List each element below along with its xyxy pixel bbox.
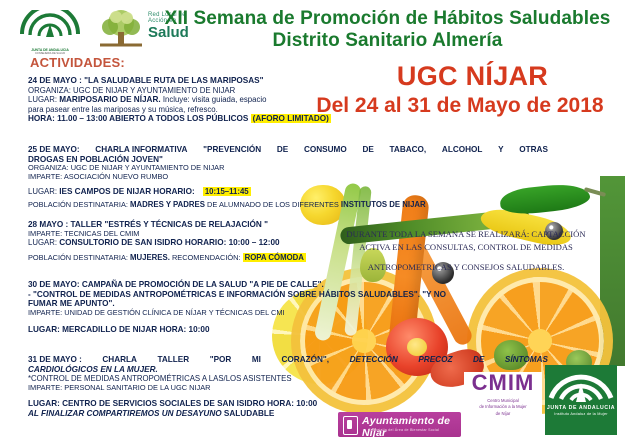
activity-24-title: "LA SALUDABLE RUTA DE LAS MARIPOSAS" <box>84 76 263 85</box>
activity-30-imparte: IMPARTE: UNIDAD DE GESTIÓN CLÍNICA DE NÍ… <box>28 309 548 318</box>
poster-title-line-1: XII Semana de Promoción de Hábitos Salud… <box>160 8 615 30</box>
activity-block-25-may: 25 DE MAYO: CHARLA INFORMATIVA "PREVENCI… <box>28 145 548 210</box>
activity-31-title-i: SÍNTOMAS <box>505 355 548 365</box>
activity-28-date: 28 MAYO : <box>28 220 68 229</box>
activity-25-poblacion-institutos: INSTITUTOS DE NIJAR <box>341 200 426 209</box>
ayuntamiento-de-nijar-logo: Ayuntamiento de Níjar Concejalía del Áre… <box>338 412 461 437</box>
cmim-logo: CMIM Centro Municipal de Información a l… <box>464 372 542 430</box>
chilli-tip-decoration <box>584 187 606 197</box>
activity-25-title-c: DE <box>277 145 288 155</box>
ugc-nijar-heading: UGC NÍJAR <box>330 61 615 92</box>
activity-25-horario-label: HORARIO: <box>153 187 194 196</box>
activity-31-title-d: MI <box>252 355 261 365</box>
activity-31-title-h: DE <box>473 355 484 365</box>
activity-30-lugar: LUGAR: MERCADILLO DE NIJAR HORA: 10:00 <box>28 325 548 335</box>
activity-30-line2: - "CONTROL DE MEDIDAS ANTROPOMÉTRICAS E … <box>28 290 548 300</box>
activity-24-lugar-rest2: para pasear entre las mariposas y su mús… <box>28 105 331 114</box>
junta-de-andalucia-logo-bottom: JUNTA DE ANDALUCIA Instituto Andaluz de … <box>545 365 617 435</box>
activity-31-title-row: 31 DE MAYO : CHARLA TALLER "POR MI CORAZ… <box>28 355 548 365</box>
activity-28-imparte: IMPARTE: TECNICAS DEL CMIM <box>28 230 306 239</box>
activity-24-lugar-label: LUGAR: <box>28 95 57 104</box>
activity-25-date: 25 DE MAYO: <box>28 145 80 155</box>
activity-25-lugar-value: IES CAMPOS DE NIJAR <box>59 187 151 196</box>
activity-25-title-a: CHARLA INFORMATIVA <box>95 145 187 155</box>
activity-25-imparte: IMPARTE: ASOCIACIÓN NUEVO RUMBO <box>28 173 548 182</box>
poster-title: XII Semana de Promoción de Hábitos Salud… <box>160 8 615 52</box>
event-dates: Del 24 al 31 de Mayo de 2018 <box>300 94 620 118</box>
cmim-wordmark: CMIM <box>464 372 542 394</box>
activity-28-poblacion-target: MUJERES. <box>130 253 170 262</box>
activity-24-hora: HORA: 11.00 – 13:00 ABIERTO A TODOS LOS … <box>28 114 248 123</box>
junta-bottom-sublabel: Instituto Andaluz de la Mujer <box>545 412 617 416</box>
activity-25-poblacion-target: MADRES Y PADRES <box>130 200 205 209</box>
red-local-accion-salud-tree-icon <box>90 8 152 48</box>
activity-25-poblacion-label: POBLACIÓN DESTINATARIA: <box>28 200 128 209</box>
activity-31-title-a: CHARLA <box>102 355 137 365</box>
activity-25-horario-highlight: 10:15–11:45 <box>203 187 251 196</box>
junta-arcs-icon <box>545 365 617 405</box>
activity-31-title-b: TALLER <box>157 355 189 365</box>
activity-28-lugar-value: CONSULTORIO DE SAN ISIDRO HORARIO: 10:00… <box>59 238 279 247</box>
week-note-line-1: DURANTE TODA LA SEMANA SE REALIZARÁ: CAP… <box>316 228 616 241</box>
activity-block-28-may: 28 MAYO : TALLER "ESTRÉS Y TÉCNICAS DE R… <box>28 220 306 263</box>
activity-30-date: 30 DE MAYO: <box>28 280 80 289</box>
activity-28-recomendacion-label: RECOMENDACIÓN: <box>172 253 241 262</box>
activity-25-title-d: CONSUMO <box>304 145 347 155</box>
activity-28-recomendacion-highlight: ROPA CÓMODA <box>243 253 306 262</box>
activity-25-title-h: Y <box>498 145 503 155</box>
junta-de-andalucia-logo-top: JUNTA DE ANDALUCIA CONSEJERIA DE SALUD <box>18 10 82 46</box>
cmim-sub-line-3: de Níjar <box>464 411 542 417</box>
activity-31-title-e: CORAZÓN", <box>282 355 330 365</box>
activity-25-lugar-label: LUGAR: <box>28 187 57 196</box>
activities-heading: ACTIVIDADES: <box>30 55 125 70</box>
activity-24-lugar-rest: Incluye: visita guiada, espacio <box>163 95 267 104</box>
activity-25-title-f: TABACO, <box>390 145 427 155</box>
activity-31-final-b: SALUDABLE <box>224 409 275 418</box>
tomato-core-decoration <box>407 338 427 356</box>
activity-31-final-a: AL FINALIZAR COMPARTIREMOS UN DESAYUNO <box>28 409 222 418</box>
activity-25-title-b: "PREVENCIÓN <box>203 145 261 155</box>
junta-bottom-name: JUNTA DE ANDALUCIA <box>545 405 617 411</box>
activity-25-title-row: 25 DE MAYO: CHARLA INFORMATIVA "PREVENCI… <box>28 145 548 155</box>
activity-31-title-f: DETECCIÓN <box>350 355 398 365</box>
ayuntamiento-shield-icon <box>343 416 358 435</box>
activity-31-date: 31 DE MAYO : <box>28 355 82 365</box>
activity-28-lugar-label: LUGAR: <box>28 238 57 247</box>
activity-31-title-g: PRECOZ <box>418 355 452 365</box>
week-long-note: DURANTE TODA LA SEMANA SE REALIZARÁ: CAP… <box>316 228 616 274</box>
ayuntamiento-sublabel: Concejalía del Área de Bienestar Social <box>368 428 439 432</box>
activity-block-24-may: 24 DE MAYO : "LA SALUDABLE RUTA DE LAS M… <box>28 76 331 123</box>
activity-25-title-i: OTRAS <box>519 145 548 155</box>
activity-25-title-g: ALCOHOL <box>442 145 482 155</box>
activity-30-title: CAMPAÑA DE PROMOCIÓN DE LA SALUD "A PIE … <box>82 280 324 289</box>
activity-31-title-c: "POR <box>210 355 232 365</box>
poster: JUNTA DE ANDALUCIA CONSEJERIA DE SALUD R… <box>0 0 625 441</box>
activity-28-title: TALLER "ESTRÉS Y TÉCNICAS DE RELAJACIÓN … <box>70 220 267 229</box>
week-note-line-2: ACTIVA EN LAS CONSULTAS, CONTROL DE MEDI… <box>316 241 616 254</box>
activity-25-title-e: DE <box>362 145 373 155</box>
activity-28-poblacion-label: POBLACIÓN DESTINATARIA: <box>28 253 128 262</box>
activity-25-poblacion-rest: DE ALUMNADO DE LOS DIFERENTES <box>207 200 339 209</box>
activity-24-organiza: ORGANIZA: UGC DE NIJAR Y AYUNTAMIENTO DE… <box>28 86 331 95</box>
week-note-line-3: ANTROPOMETRICAS Y CONSEJOS SALUDABLES. <box>316 261 616 274</box>
activity-24-lugar-value: MARIPOSARIO DE NÍJAR. <box>59 95 160 104</box>
cmim-sublabel: Centro Municipal de Información a la Muj… <box>464 398 542 417</box>
poster-title-line-2: Distrito Sanitario Almería <box>160 30 615 52</box>
activity-24-aforo-highlight: (AFORO LIMITADO) <box>251 114 331 123</box>
ayuntamiento-name: Ayuntamiento de Níjar <box>362 415 461 437</box>
activity-24-date: 24 DE MAYO : <box>28 76 82 85</box>
activity-block-30-may: 30 DE MAYO: CAMPAÑA DE PROMOCIÓN DE LA S… <box>28 280 548 334</box>
